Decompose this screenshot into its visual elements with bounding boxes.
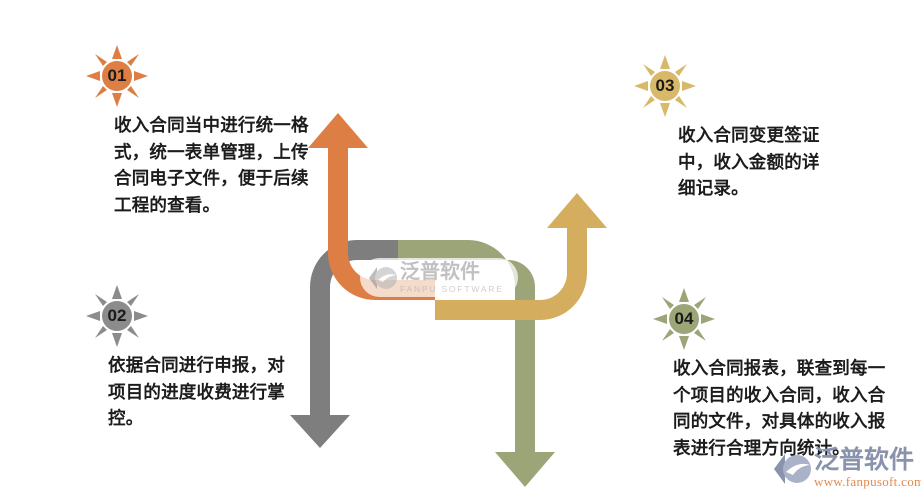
info-block-04: 04 收入合同报表，联查到每一个项目的收入合同，收入合同的文件，对具体的收入报表… <box>645 288 898 462</box>
watermark-corner: 泛普软件 www.fanpusoft.com <box>772 447 921 490</box>
info-text-03: 收入合同变更签证中，收入金额的详细记录。 <box>678 123 828 203</box>
watermark-corner-cn: 泛普软件 <box>814 447 921 472</box>
fanpu-logo-icon <box>366 263 400 293</box>
info-block-01: 01 收入合同当中进行统一格式，统一表单管理，上传合同电子文件，便于后续工程的查… <box>78 45 314 219</box>
sunburst-badge-03: 03 <box>634 55 696 117</box>
info-text-01: 收入合同当中进行统一格式，统一表单管理，上传合同电子文件，便于后续工程的查看。 <box>114 113 314 219</box>
info-block-03: 03 收入合同变更签证中，收入金额的详细记录。 <box>628 55 828 203</box>
sunburst-badge-04: 04 <box>653 288 715 350</box>
watermark-center-en: FANPU SOFTWARE <box>400 284 504 294</box>
watermark-center-cn: 泛普软件 <box>400 261 504 281</box>
fanpu-logo-icon <box>772 449 814 489</box>
badge-number-02: 02 <box>86 285 148 347</box>
watermark-corner-en: www.fanpusoft.com <box>814 474 921 490</box>
badge-number-04: 04 <box>653 288 715 350</box>
badge-number-03: 03 <box>634 55 696 117</box>
info-text-02: 依据合同进行申报，对项目的进度收费进行掌控。 <box>108 353 300 433</box>
watermark-center: 泛普软件 FANPU SOFTWARE <box>360 258 518 297</box>
sunburst-badge-02: 02 <box>86 285 148 347</box>
sunburst-badge-01: 01 <box>86 45 148 107</box>
badge-number-01: 01 <box>86 45 148 107</box>
info-block-02: 02 依据合同进行申报，对项目的进度收费进行掌控。 <box>78 285 300 433</box>
infographic-canvas: 泛普软件 FANPU SOFTWARE 01 <box>0 0 921 500</box>
